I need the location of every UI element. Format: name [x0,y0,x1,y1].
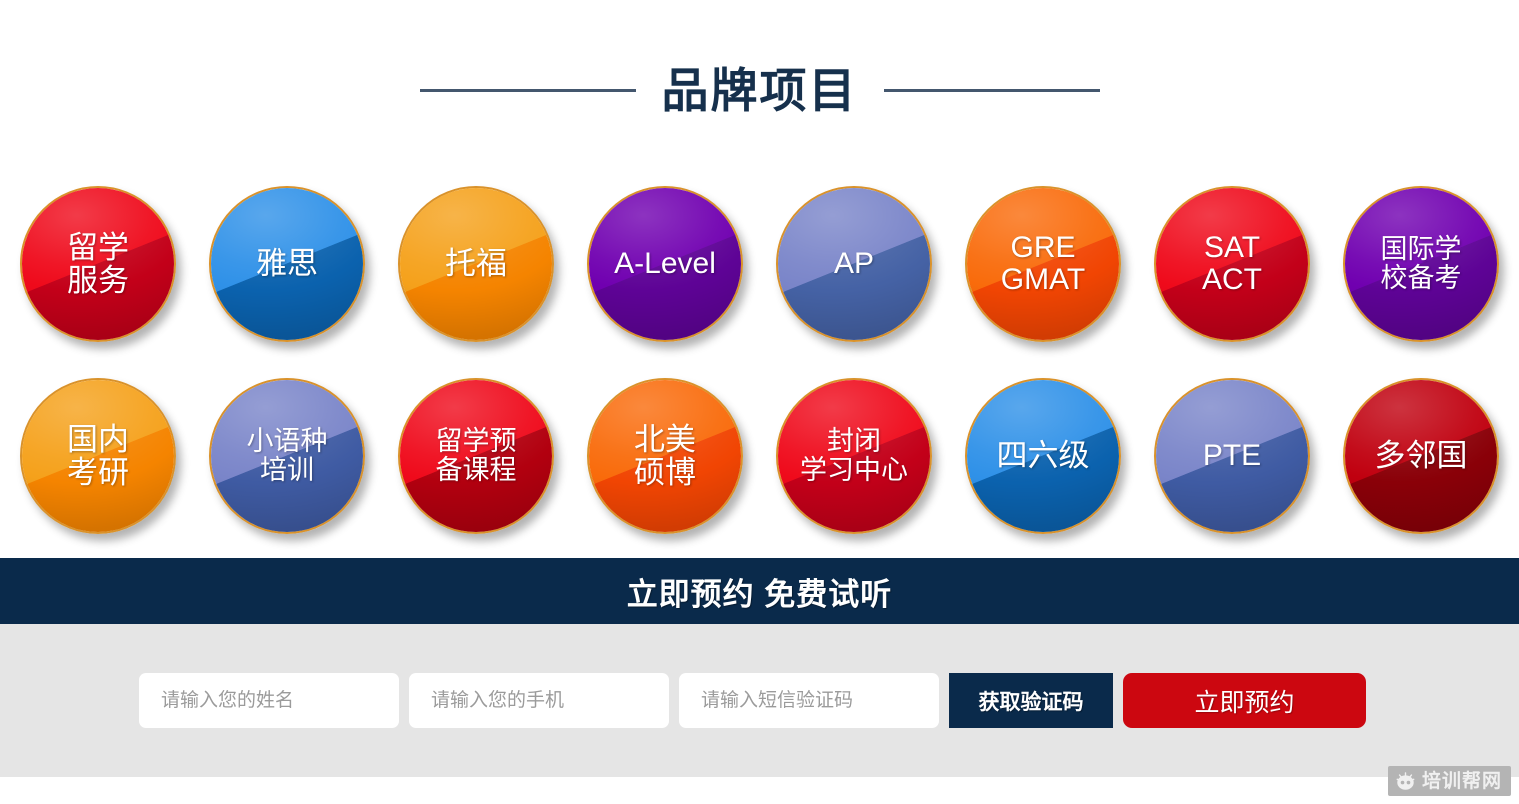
program-label: 北美 硕博 [589,423,741,490]
program-cell: 国内 考研 [8,378,188,534]
submit-booking-button[interactable]: 立即预约 [1123,673,1366,728]
program-label: 封闭 学习中心 [778,427,930,485]
program-bubble-pte[interactable]: PTE [1154,378,1310,534]
name-input[interactable] [139,673,399,728]
program-label: 国内 考研 [22,423,174,490]
program-cell: 北美 硕博 [575,378,755,534]
program-cell: 封闭 学习中心 [764,378,944,534]
program-bubble-duolingo[interactable]: 多邻国 [1343,378,1499,534]
program-bubble-ap[interactable]: AP [776,186,932,342]
program-label: A-Level [589,248,741,280]
program-bubble-gre-gmat[interactable]: GRE GMAT [965,186,1121,342]
sms-code-input[interactable] [679,673,939,728]
program-bubble-toefl[interactable]: 托福 [398,186,554,342]
program-label: 托福 [400,247,552,280]
program-cell: A-Level [575,186,755,342]
program-bubble-ielts[interactable]: 雅思 [209,186,365,342]
program-cell: SAT ACT [1142,186,1322,342]
program-bubble-study-abroad-prep-course[interactable]: 留学预 备课程 [398,378,554,534]
program-bubble-minor-language-training[interactable]: 小语种 培训 [209,378,365,534]
program-label: SAT ACT [1156,232,1308,297]
program-bubble-study-abroad-service[interactable]: 留学 服务 [20,186,176,342]
program-cell: 多邻国 [1331,378,1511,534]
sun-face-icon [1395,771,1416,792]
program-label: AP [778,248,930,280]
program-cell: 托福 [386,186,566,342]
program-label: 雅思 [211,247,363,280]
watermark: 培训帮网 [1388,766,1511,796]
program-cell: 留学预 备课程 [386,378,566,534]
get-code-button[interactable]: 获取验证码 [949,673,1113,728]
program-cell: 雅思 [197,186,377,342]
program-label: GRE GMAT [967,232,1119,297]
program-bubble-sat-act[interactable]: SAT ACT [1154,186,1310,342]
program-cell: GRE GMAT [953,186,1133,342]
page-title: 品牌项目 [662,67,858,114]
program-cell: 四六级 [953,378,1133,534]
program-cell: 留学 服务 [8,186,188,342]
program-bubble-north-america-masters-phd[interactable]: 北美 硕博 [587,378,743,534]
program-cell: 国际学 校备考 [1331,186,1511,342]
phone-input[interactable] [409,673,669,728]
program-bubble-a-level[interactable]: A-Level [587,186,743,342]
program-label: 国际学 校备考 [1345,235,1497,293]
watermark-text: 培训帮网 [1422,772,1502,791]
program-label: PTE [1156,440,1308,472]
program-label: 多邻国 [1345,439,1497,472]
program-cell: PTE [1142,378,1322,534]
program-label: 留学 服务 [22,231,174,298]
heading-rule-left [420,89,636,92]
cta-banner: 立即预约 免费试听 [0,558,1519,624]
program-label: 留学预 备课程 [400,427,552,485]
cta-banner-text: 立即预约 免费试听 [627,569,893,614]
program-bubble-domestic-postgrad-exam[interactable]: 国内 考研 [20,378,176,534]
booking-form: 获取验证码 立即预约 [0,624,1519,777]
program-cell: 小语种 培训 [197,378,377,534]
program-bubble-international-school-prep[interactable]: 国际学 校备考 [1343,186,1499,342]
program-bubble-cet-4-6[interactable]: 四六级 [965,378,1121,534]
program-bubble-closed-study-center[interactable]: 封闭 学习中心 [776,378,932,534]
section-heading: 品牌项目 [0,0,1519,168]
program-grid: 留学 服务雅思托福A-LevelAPGRE GMATSAT ACT国际学 校备考… [0,168,1519,552]
program-label: 四六级 [967,439,1119,472]
program-row-2: 国内 考研小语种 培训留学预 备课程北美 硕博封闭 学习中心四六级PTE多邻国 [8,360,1511,552]
program-label: 小语种 培训 [211,427,363,485]
program-row-1: 留学 服务雅思托福A-LevelAPGRE GMATSAT ACT国际学 校备考 [8,168,1511,360]
program-cell: AP [764,186,944,342]
heading-rule-right [884,89,1100,92]
